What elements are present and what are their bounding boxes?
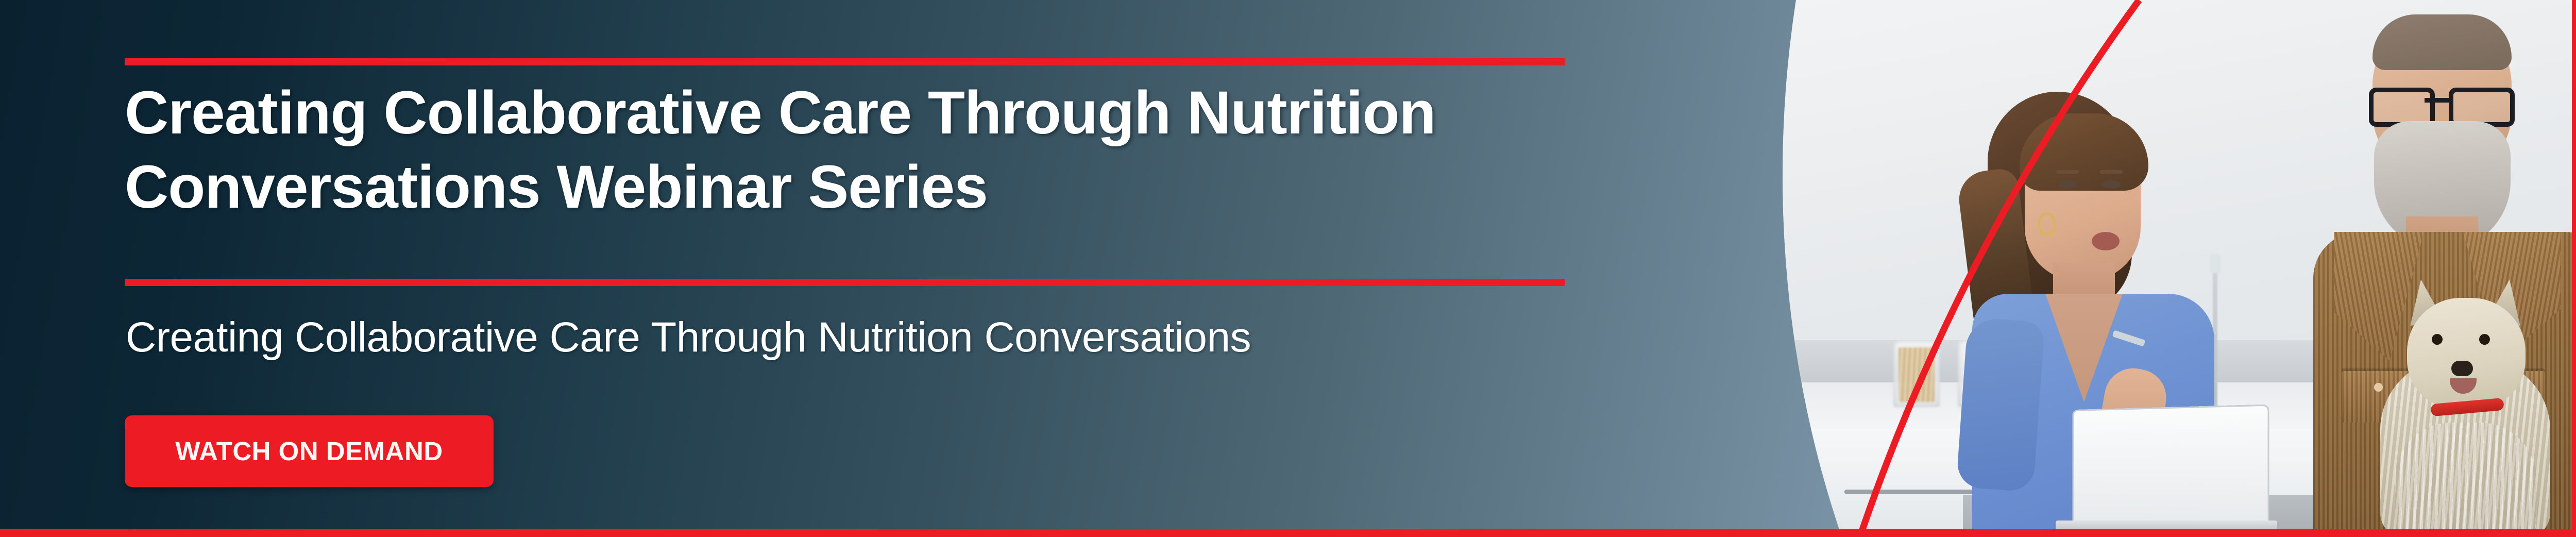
headline-rule-bottom — [125, 279, 1565, 286]
webinar-promo-banner: Creating Collaborative Care Through Nutr… — [0, 0, 2576, 537]
hero-photo-scene — [1777, 0, 2576, 537]
banner-content: Creating Collaborative Care Through Nutr… — [125, 0, 1572, 537]
right-edge-rule — [2572, 0, 2576, 537]
watch-on-demand-button[interactable]: WATCH ON DEMAND — [125, 415, 494, 487]
dog-chest-fur — [2395, 423, 2536, 537]
glasses-bridge — [2425, 98, 2450, 103]
vet-eye-left — [2058, 180, 2077, 189]
vet-mouth — [2092, 232, 2120, 250]
owner-hair — [2372, 14, 2512, 70]
page-title: Creating Collaborative Care Through Nutr… — [125, 76, 1572, 225]
headline-rule-top — [125, 58, 1565, 65]
laptop-screen — [2072, 404, 2269, 531]
dog-nose — [2451, 361, 2473, 376]
vet-sleeve-left — [1956, 317, 2045, 492]
dog-eye-right — [2479, 334, 2490, 345]
dog-eye-left — [2432, 334, 2443, 345]
dog-figure — [2370, 268, 2576, 537]
cotton-swab-jar — [1893, 340, 1940, 407]
hero-photo — [1777, 0, 2576, 537]
eyeglasses-icon — [2369, 88, 2518, 119]
subtitle: Creating Collaborative Care Through Nutr… — [126, 314, 1251, 361]
vet-eye-right — [2102, 180, 2121, 189]
hoop-earring-icon — [2038, 212, 2056, 236]
vet-eyebrow-right — [2100, 170, 2123, 174]
vet-eyebrow-left — [2056, 170, 2079, 174]
vet-hair-front — [2020, 113, 2148, 191]
